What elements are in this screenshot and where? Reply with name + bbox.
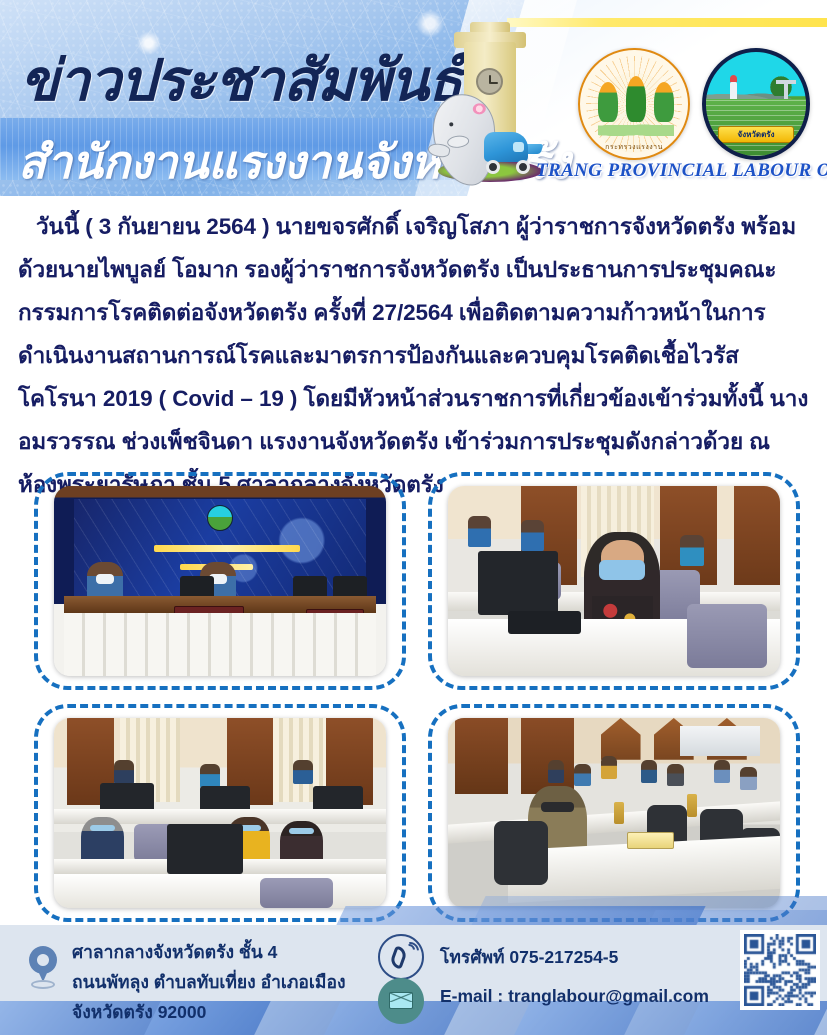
banner-title-thai: ข่าวประชาสัมพันธ์ bbox=[20, 36, 462, 126]
dugong-snout bbox=[447, 135, 470, 149]
trang-province-seal-icon: จังหวัดตรัง bbox=[702, 48, 810, 160]
seal-labour-caption: กระทรวงแรงงาน bbox=[580, 142, 688, 153]
email-icon bbox=[378, 978, 424, 1024]
clock-face-icon bbox=[476, 68, 503, 95]
seal-tree bbox=[768, 74, 794, 96]
background-attendee-2 bbox=[521, 520, 544, 550]
location-pin-icon bbox=[26, 946, 60, 990]
desk-nameplate bbox=[627, 832, 673, 849]
attendee-5 bbox=[667, 764, 684, 787]
news-release-page: ข่าวประชาสัมพันธ์ สำนักงานแรงงานจังหวัดต… bbox=[0, 0, 827, 1035]
article-paragraph: วันนี้ ( 3 กันยายน 2564 ) นายขจรศักดิ์ เ… bbox=[18, 205, 811, 506]
phone-icon bbox=[378, 934, 424, 980]
pin-shadow bbox=[31, 980, 55, 989]
wood-wall-panel-2 bbox=[521, 718, 574, 794]
wood-wall-panel-3 bbox=[734, 486, 780, 585]
chair-front bbox=[687, 604, 767, 669]
photo-cell-1[interactable] bbox=[34, 472, 406, 690]
wood-wall-panel-1 bbox=[455, 718, 508, 794]
seal-figure-right bbox=[654, 82, 674, 122]
tuktuk-wheel-front bbox=[486, 160, 500, 174]
chair-1 bbox=[494, 821, 547, 886]
seal-cloud bbox=[598, 122, 674, 136]
tuktuk-window bbox=[513, 142, 524, 152]
photo-cell-4[interactable] bbox=[428, 704, 800, 922]
water-bottle-1 bbox=[614, 802, 624, 825]
office-name-english: TRANG PROVINCIAL LABOUR OFFICE bbox=[536, 160, 827, 182]
photo-cell-3[interactable] bbox=[34, 704, 406, 922]
face-mask bbox=[90, 825, 115, 831]
chair-front bbox=[260, 878, 333, 908]
attendee-3 bbox=[601, 756, 618, 779]
tuktuk-icon bbox=[484, 128, 542, 174]
wall-arch-1 bbox=[601, 718, 641, 760]
table-skirt bbox=[64, 613, 376, 676]
attendee-4 bbox=[641, 760, 658, 783]
background-attendee-1 bbox=[114, 760, 134, 785]
tuktuk-body bbox=[484, 132, 528, 162]
face-mask bbox=[289, 828, 314, 834]
desktop-monitor bbox=[478, 551, 558, 616]
seal-province-caption: จังหวัดตรัง bbox=[718, 126, 794, 143]
monitor-foreground bbox=[167, 824, 243, 873]
face-mask bbox=[96, 574, 114, 584]
background-attendee-1 bbox=[468, 516, 491, 546]
photo-image-2 bbox=[448, 486, 780, 676]
photo-cell-2[interactable] bbox=[428, 472, 800, 690]
background-attendee-3 bbox=[293, 760, 313, 785]
article-body: วันนี้ ( 3 กันยายน 2564 ) นายขจรศักดิ์ เ… bbox=[18, 205, 811, 506]
banner-yellow-stripe bbox=[507, 18, 827, 27]
qr-code-canvas bbox=[744, 934, 816, 1006]
phone-number: โทรศัพท์ 075-217254-5 bbox=[440, 943, 618, 971]
background-attendee-2 bbox=[200, 764, 220, 789]
face-mask bbox=[599, 560, 645, 580]
attendee-2 bbox=[574, 764, 591, 787]
conference-microphone bbox=[508, 611, 581, 634]
photo-image-4 bbox=[448, 718, 780, 908]
backdrop-title-bar bbox=[154, 545, 300, 552]
province-badge-icon bbox=[207, 505, 233, 531]
pin-hole bbox=[37, 954, 49, 966]
background-attendee-3 bbox=[680, 535, 703, 565]
photo-image-1 bbox=[54, 486, 386, 676]
dugong-eye bbox=[449, 122, 453, 126]
flower-icon bbox=[472, 103, 486, 115]
seal-figures bbox=[598, 76, 674, 122]
envelope-glyph bbox=[389, 992, 413, 1009]
seal-figure-left bbox=[598, 82, 618, 122]
address-block: ศาลากลางจังหวัดตรัง ชั้น 4 ถนนพัทลุง ตำบ… bbox=[72, 937, 372, 1027]
email-address[interactable]: E-mail : tranglabour@gmail.com bbox=[440, 986, 709, 1007]
attendee-1 bbox=[548, 760, 565, 783]
attendee-7 bbox=[740, 767, 757, 790]
address-line-1: ศาลากลางจังหวัดตรัง ชั้น 4 bbox=[72, 937, 372, 967]
header-banner: ข่าวประชาสัมพันธ์ สำนักงานแรงงานจังหวัดต… bbox=[0, 0, 827, 196]
photo-grid bbox=[34, 472, 800, 922]
water-bottle-2 bbox=[687, 794, 697, 817]
attendee-6 bbox=[714, 760, 731, 783]
face-mask bbox=[541, 802, 574, 812]
projection-screen bbox=[680, 726, 760, 756]
address-line-2: ถนนพัทลุง ตำบลทับเที่ยง อำเภอเมือง bbox=[72, 967, 372, 997]
tuktuk-wheel-rear bbox=[516, 160, 530, 174]
ministry-of-labour-seal-icon: กระทรวงแรงงาน bbox=[578, 48, 690, 160]
seal-figure-center bbox=[626, 76, 646, 122]
photo-image-3 bbox=[54, 718, 386, 908]
front-table-surface bbox=[54, 874, 386, 908]
address-line-3: จังหวัดตรัง 92000 bbox=[72, 997, 372, 1027]
qr-code[interactable] bbox=[740, 930, 820, 1010]
